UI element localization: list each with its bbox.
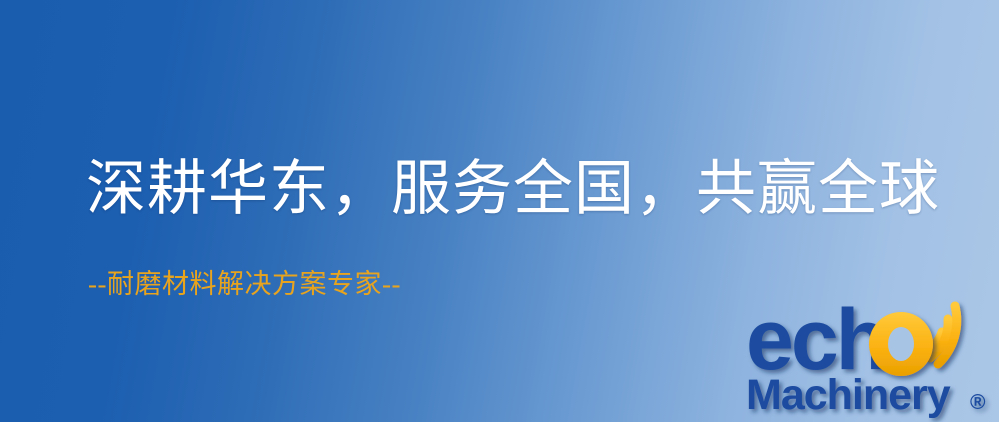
logo-graphic: ech Machinery ® — [746, 296, 994, 418]
registered-trademark-icon: ® — [970, 391, 986, 414]
hero-banner: 深耕华东，服务全国，共赢全球 --耐磨材料解决方案专家-- — [0, 0, 999, 422]
logo-text-machinery: Machinery — [746, 371, 951, 419]
page-title: 深耕华东，服务全国，共赢全球 — [86, 153, 940, 225]
logo-letter-o — [869, 312, 933, 376]
brand-logo[interactable]: ech Machinery ® — [746, 296, 994, 418]
page-subtitle: --耐磨材料解决方案专家-- — [88, 267, 401, 301]
